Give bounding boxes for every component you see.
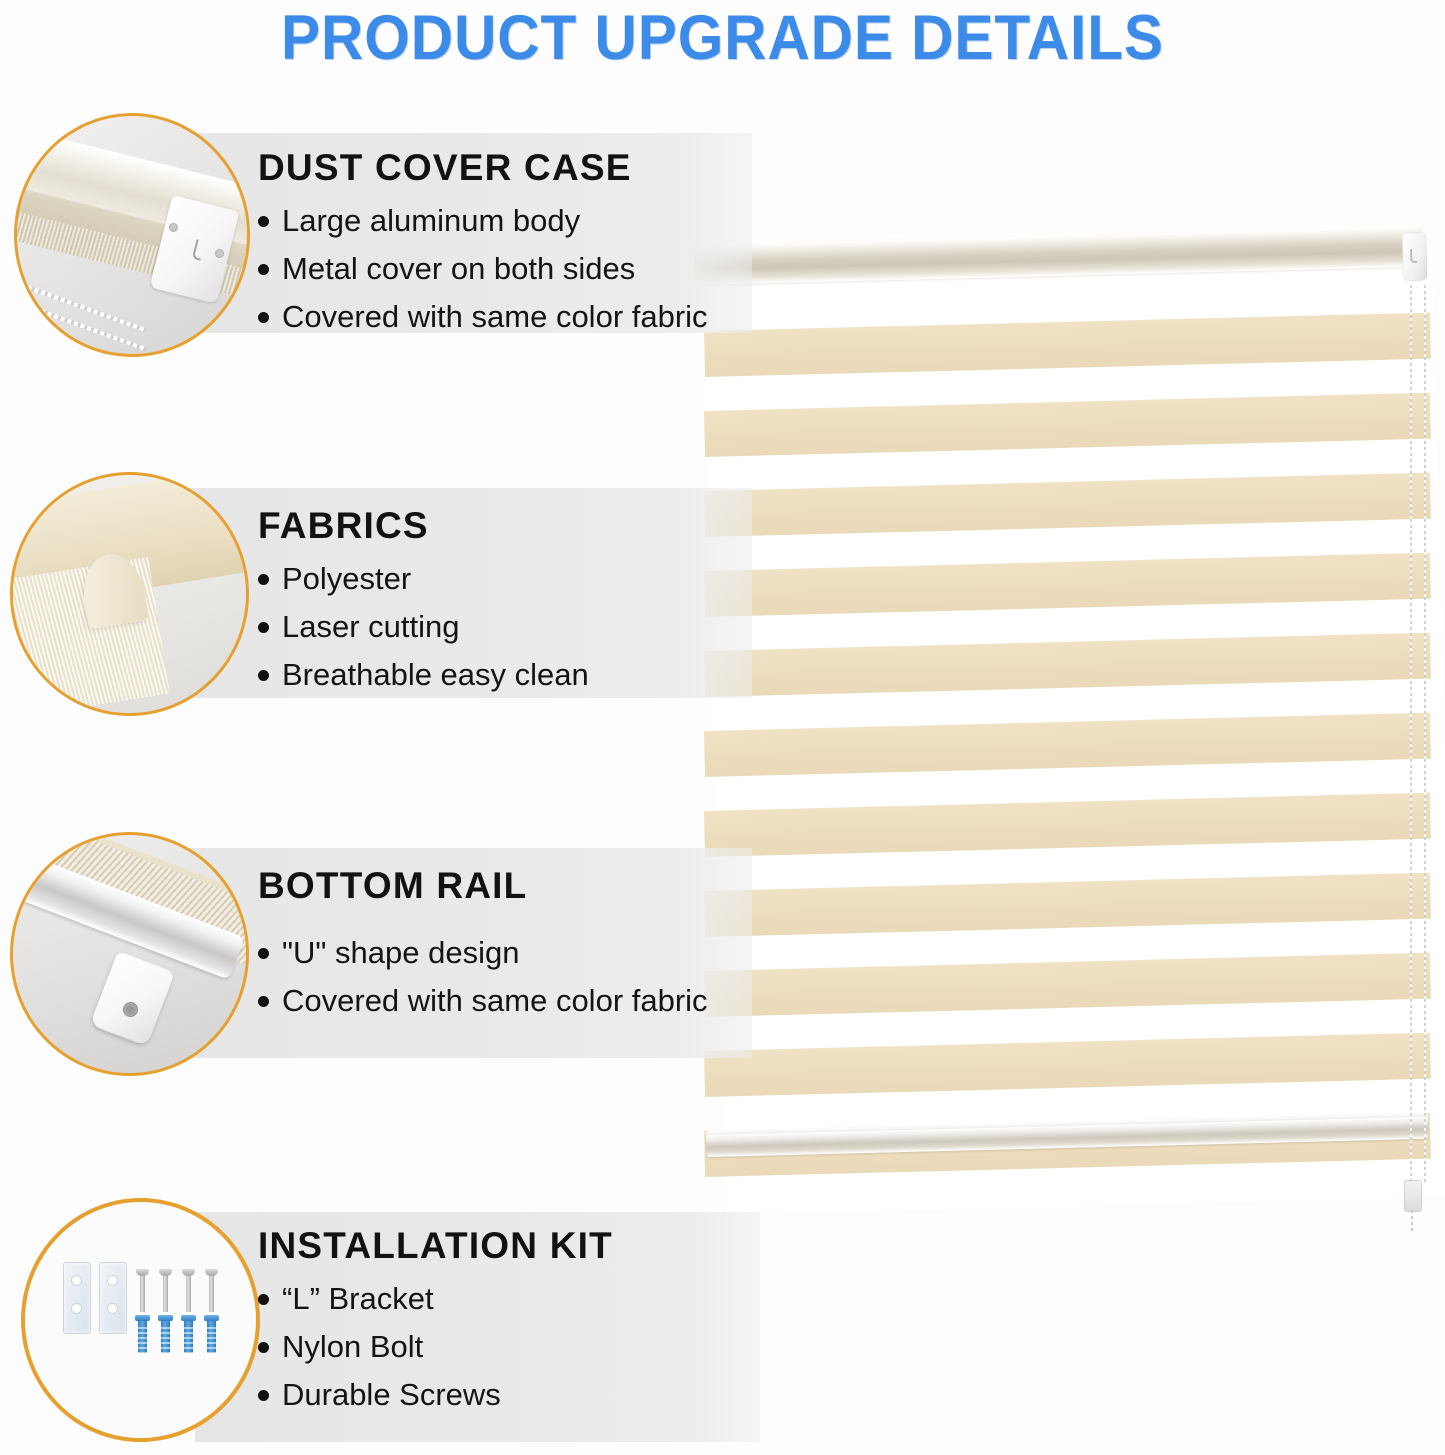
bullet-text: Polyester (282, 561, 411, 597)
zebra-roller-blind-photo (690, 225, 1445, 1240)
blind-assembly (690, 225, 1445, 1240)
feature-title: BOTTOM RAIL (258, 865, 708, 907)
bullet-text: Durable Screws (282, 1377, 501, 1413)
thumbnail-image (25, 1202, 256, 1438)
bottom-rail-photo-icon (10, 832, 249, 1076)
bullet-dot-icon (258, 670, 269, 681)
feature-bullet-list: Large aluminum body Metal cover on both … (258, 203, 708, 335)
feature-bullet-list: Polyester Laser cutting Breathable easy … (258, 561, 589, 693)
screw-icon (140, 1274, 145, 1312)
bullet-text: “L” Bracket (282, 1281, 434, 1317)
feature-title: INSTALLATION KIT (258, 1225, 613, 1267)
feature-title: FABRICS (258, 505, 589, 547)
bead-control-chain (1424, 285, 1426, 1185)
feature-bullet-list: "U" shape design Covered with same color… (258, 935, 708, 1019)
bullet-dot-icon (258, 216, 269, 227)
feature-title: DUST COVER CASE (258, 147, 708, 189)
nylon-anchor-icon (138, 1319, 147, 1353)
bullet-text: Breathable easy clean (282, 657, 589, 693)
screw-icon (163, 1274, 168, 1312)
screw-icon (209, 1274, 214, 1312)
bullet-dot-icon (258, 1390, 269, 1401)
page-title: PRODUCT UPGRADE DETAILS (51, 2, 1395, 74)
nylon-anchor-icon (184, 1319, 193, 1353)
bullet-dot-icon (258, 996, 269, 1007)
l-bracket-icon (63, 1262, 91, 1334)
bullet-dot-icon (258, 1294, 269, 1305)
bullet-text: Large aluminum body (282, 203, 580, 239)
bullet-text: Covered with same color fabric (282, 299, 708, 335)
bullet-item: Covered with same color fabric (258, 983, 708, 1019)
bullet-text: Nylon Bolt (282, 1329, 423, 1365)
bullet-item: Covered with same color fabric (258, 299, 708, 335)
bullet-dot-icon (258, 264, 269, 275)
nylon-anchor-icon (161, 1319, 170, 1353)
bead-control-chain (1410, 285, 1412, 1185)
bullet-item: "U" shape design (258, 935, 708, 971)
chain-tail (1411, 1210, 1413, 1232)
bullet-text: Covered with same color fabric (282, 983, 708, 1019)
bullet-text: "U" shape design (282, 935, 519, 971)
bullet-item: Metal cover on both sides (258, 251, 708, 287)
bullet-item: Breathable easy clean (258, 657, 589, 693)
l-bracket-icon (99, 1262, 127, 1334)
bullet-dot-icon (258, 312, 269, 323)
fabric-swatch-photo-icon (10, 472, 249, 716)
bullet-dot-icon (258, 1342, 269, 1353)
bullet-dot-icon (258, 574, 269, 585)
thumbnail-image (13, 835, 246, 1073)
bullet-dot-icon (258, 948, 269, 959)
bullet-item: “L” Bracket (258, 1281, 613, 1317)
bullet-item: Nylon Bolt (258, 1329, 613, 1365)
bullet-text: Laser cutting (282, 609, 460, 645)
head-rail-photo-icon (14, 113, 250, 357)
bullet-dot-icon (258, 622, 269, 633)
bullet-text: Metal cover on both sides (282, 251, 635, 287)
infographic-canvas: PRODUCT UPGRADE DETAILS (0, 0, 1445, 1455)
installation-hardware-photo-icon (21, 1198, 260, 1442)
screw-icon (186, 1274, 191, 1312)
thumbnail-image (17, 116, 247, 354)
nylon-anchor-icon (207, 1319, 216, 1353)
headrail-hook-icon (1410, 249, 1417, 263)
feature-bullet-list: “L” Bracket Nylon Bolt Durable Screws (258, 1281, 613, 1413)
bullet-item: Durable Screws (258, 1377, 613, 1413)
chain-connector (1404, 1180, 1422, 1212)
thumbnail-image (13, 475, 246, 713)
bullet-item: Polyester (258, 561, 589, 597)
bullet-item: Large aluminum body (258, 203, 708, 239)
bullet-item: Laser cutting (258, 609, 589, 645)
